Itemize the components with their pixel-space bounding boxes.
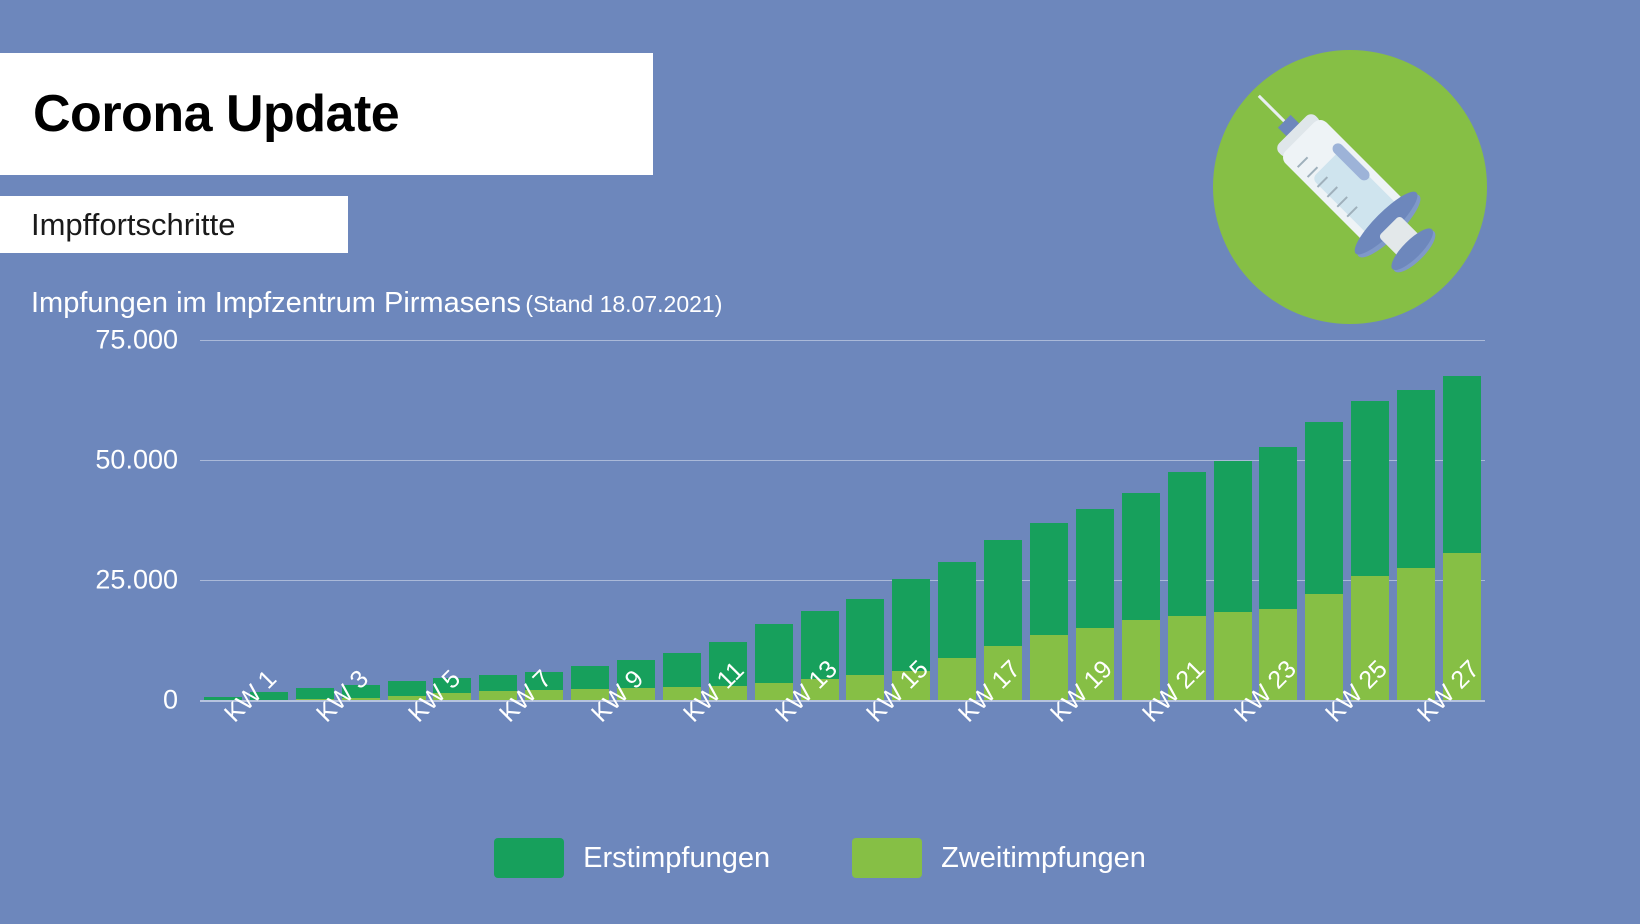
legend-swatch-second — [852, 838, 922, 878]
chart-bar[interactable] — [846, 599, 884, 700]
legend-label: Zweitimpfungen — [941, 842, 1146, 875]
bar-segment-erstimpfungen — [663, 653, 701, 688]
bar-segment-zweitimpfungen — [1305, 594, 1343, 700]
chart-caption-date: (Stand 18.07.2021) — [525, 291, 722, 317]
title-panel: Corona Update — [0, 53, 653, 175]
legend-item[interactable]: Zweitimpfungen — [852, 838, 1146, 878]
chart-bar[interactable] — [938, 562, 976, 700]
bar-segment-erstimpfungen — [846, 599, 884, 675]
chart-caption: Impfungen im Impfzentrum Pirmasens (Stan… — [31, 287, 722, 320]
bar-segment-erstimpfungen — [1351, 401, 1389, 576]
bar-segment-erstimpfungen — [1305, 422, 1343, 594]
legend-label: Erstimpfungen — [583, 842, 770, 875]
bar-segment-erstimpfungen — [1076, 509, 1114, 628]
chart-bar[interactable] — [755, 624, 793, 700]
y-axis-tick-label: 25.000 — [95, 565, 178, 596]
chart-bar[interactable] — [1305, 422, 1343, 700]
y-axis-tick-label: 0 — [163, 685, 178, 716]
bar-segment-erstimpfungen — [1259, 447, 1297, 609]
legend-item[interactable]: Erstimpfungen — [494, 838, 770, 878]
chart-baseline — [200, 700, 1485, 702]
bar-segment-erstimpfungen — [1443, 376, 1481, 553]
chart-bar[interactable] — [1030, 523, 1068, 700]
bar-segment-erstimpfungen — [1214, 461, 1252, 613]
bar-segment-erstimpfungen — [1030, 523, 1068, 635]
chart-plot-area — [200, 340, 1485, 700]
bar-segment-zweitimpfungen — [1122, 620, 1160, 700]
y-axis-tick-label: 75.000 — [95, 325, 178, 356]
syringe-icon — [1213, 50, 1487, 324]
bar-segment-erstimpfungen — [1397, 390, 1435, 568]
chart-bar[interactable] — [1214, 461, 1252, 701]
page-subtitle: Impffortschritte — [0, 207, 235, 243]
bar-segment-erstimpfungen — [984, 540, 1022, 646]
bar-segment-zweitimpfungen — [1397, 568, 1435, 700]
subtitle-panel: Impffortschritte — [0, 196, 348, 253]
chart-bar[interactable] — [1397, 390, 1435, 700]
chart-bar[interactable] — [1351, 401, 1389, 700]
syringe-badge — [1213, 50, 1487, 324]
chart-legend: ErstimpfungenZweitimpfungen — [0, 838, 1640, 878]
page-title: Corona Update — [0, 84, 399, 144]
bar-segment-zweitimpfungen — [1214, 612, 1252, 700]
y-axis-tick-label: 50.000 — [95, 445, 178, 476]
chart-bar[interactable] — [1443, 376, 1481, 700]
chart-bar[interactable] — [1122, 493, 1160, 700]
chart-caption-main: Impfungen im Impfzentrum Pirmasens — [31, 287, 521, 319]
bar-segment-erstimpfungen — [1168, 472, 1206, 616]
bar-segment-erstimpfungen — [571, 666, 609, 689]
vaccination-chart: 025.00050.00075.000 KW 1KW 3KW 5KW 7KW 9… — [0, 330, 1640, 924]
legend-swatch-first — [494, 838, 564, 878]
bar-segment-erstimpfungen — [1122, 493, 1160, 620]
bar-segment-erstimpfungen — [938, 562, 976, 658]
bar-segment-erstimpfungen — [755, 624, 793, 683]
